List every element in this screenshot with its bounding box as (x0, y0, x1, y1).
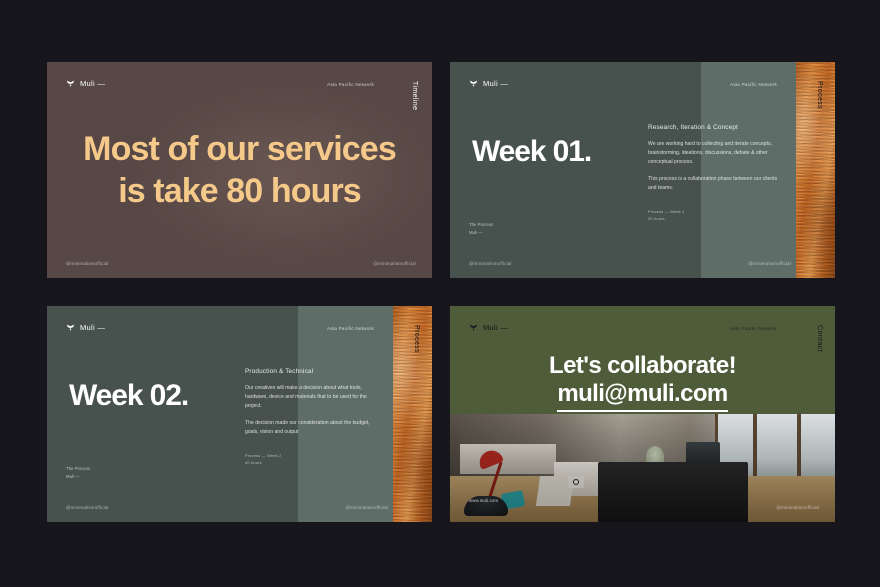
handle-left[interactable]: @minimalismofficial (469, 261, 512, 266)
corner-note-line-1: The Process (66, 465, 90, 472)
brand-logo[interactable]: Muli — (469, 323, 508, 332)
body-heading: Research, Iteration & Concept (648, 124, 784, 131)
body-paragraph-2: The decision made our consideration abou… (245, 419, 381, 437)
corner-note: The Process Muli — (469, 221, 493, 236)
muli-bird-icon (469, 79, 478, 88)
network-label: Asia Pacific Network (730, 82, 777, 87)
week-title: Week 01. (472, 135, 591, 169)
handle-left[interactable]: @minimalismofficial (66, 261, 109, 266)
contact-headline: Let's collaborate! muli@muli.com (450, 352, 835, 412)
brand-logo[interactable]: Muli — (66, 323, 105, 332)
body-block: Production & Technical Our creatives wil… (245, 368, 381, 466)
brand-logo-label: Muli — (80, 79, 105, 88)
network-label: Asia Pacific Network (730, 326, 777, 331)
muli-bird-icon (66, 79, 75, 88)
handle-right[interactable]: @minimalismofficial (748, 261, 791, 266)
corner-note-line-2: Muli — (66, 473, 90, 480)
contact-email-link[interactable]: muli@muli.com (557, 380, 727, 411)
section-label-timeline: Timeline (411, 81, 418, 110)
meta-block: Process — Week 2 40 hours (245, 453, 381, 467)
network-label: Asia Pacific Network (327, 326, 374, 331)
headline-line-1: Most of our services (47, 128, 432, 170)
slide-contact[interactable]: Muli — Asia Pacific Network Contact Let'… (450, 306, 835, 522)
headline-line-2: is take 80 hours (47, 170, 432, 212)
section-label-process: Process (816, 81, 823, 109)
handle-left[interactable]: @minimalismofficial (66, 505, 109, 510)
slide-week-01[interactable]: Muli — Asia Pacific Network Process Week… (450, 62, 835, 278)
week-title: Week 02. (69, 379, 188, 413)
handle-right[interactable]: @minimalismofficial (373, 261, 416, 266)
section-label-process: Process (413, 325, 420, 353)
corner-note-line-2: Muli — (469, 229, 493, 236)
body-paragraph-2: This process is a collaboration phase be… (648, 175, 784, 193)
network-label: Asia Pacific Network (327, 82, 374, 87)
meta-line-2: 20 hours (648, 216, 784, 223)
meta-line-1: Process — Week 1 (648, 209, 784, 216)
handle-right[interactable]: @minimalismofficial (345, 505, 388, 510)
body-paragraph-1: Our creatives will make a decision about… (245, 384, 381, 410)
slide-week-02[interactable]: Muli — Asia Pacific Network Process Week… (47, 306, 432, 522)
website-label[interactable]: www.muli.com (469, 498, 498, 503)
body-block: Research, Iteration & Concept We are wor… (648, 124, 784, 222)
brand-logo-label: Muli — (483, 79, 508, 88)
presentation-board: Muli — Asia Pacific Network Timeline Mos… (0, 0, 880, 587)
muli-bird-icon (66, 323, 75, 332)
muli-bird-icon (469, 323, 478, 332)
headline: Most of our services is take 80 hours (47, 128, 432, 212)
handle-right[interactable]: @minimalismofficial (776, 505, 819, 510)
body-paragraph-1: We are working hard to collecting and it… (648, 140, 784, 166)
brand-logo[interactable]: Muli — (469, 79, 508, 88)
brand-logo-label: Muli — (483, 323, 508, 332)
brand-logo[interactable]: Muli — (66, 79, 105, 88)
slide-timeline[interactable]: Muli — Asia Pacific Network Timeline Mos… (47, 62, 432, 278)
corner-note: The Process Muli — (66, 465, 90, 480)
meta-line-1: Process — Week 2 (245, 453, 381, 460)
body-heading: Production & Technical (245, 368, 381, 375)
contact-headline-text: Let's collaborate! (450, 352, 835, 380)
section-label-contact: Contact (816, 325, 823, 352)
meta-line-2: 40 hours (245, 460, 381, 467)
brand-logo-label: Muli — (80, 323, 105, 332)
meta-block: Process — Week 1 20 hours (648, 209, 784, 223)
corner-note-line-1: The Process (469, 221, 493, 228)
